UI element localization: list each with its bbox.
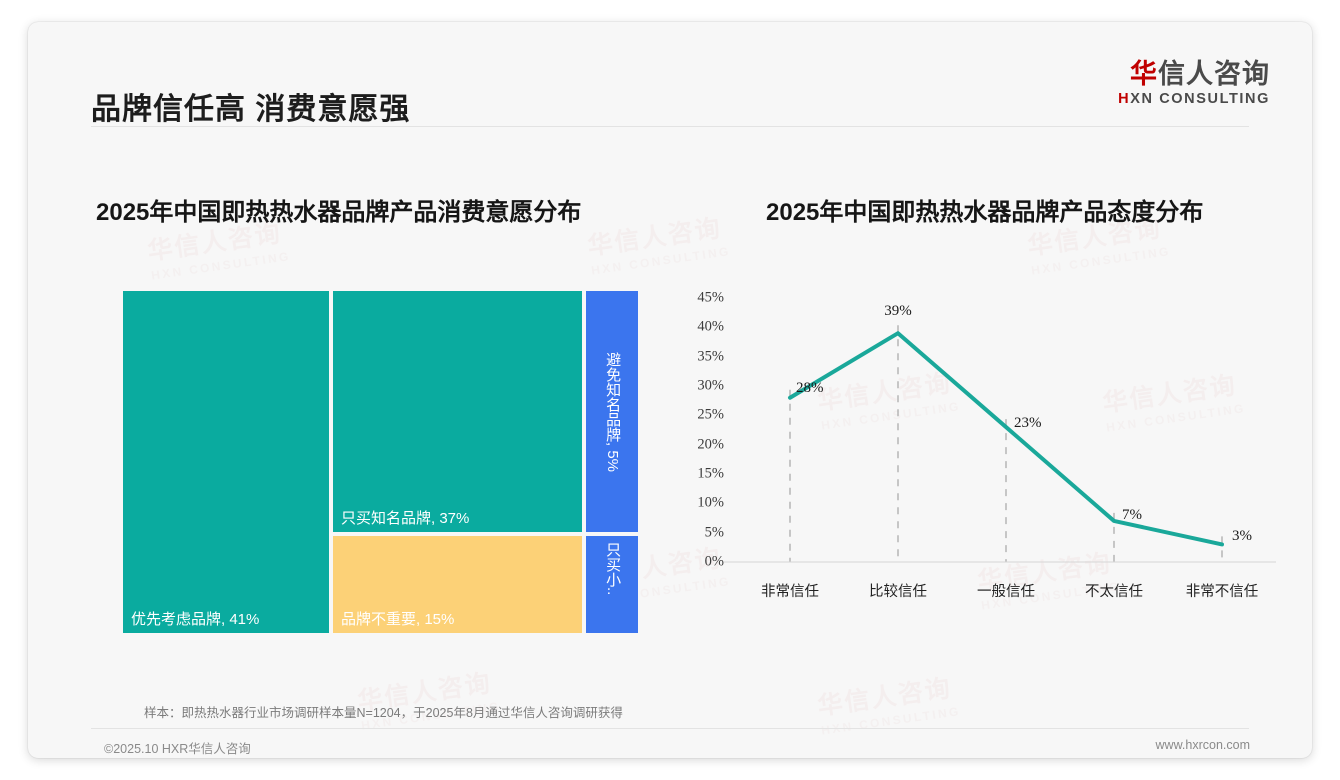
x-axis-tick-label: 不太信任 <box>1085 580 1143 601</box>
header-divider <box>91 126 1249 127</box>
data-point-label: 39% <box>884 303 912 320</box>
company-logo: 华信人咨询 HXN CONSULTING <box>1118 60 1270 107</box>
treemap-tile[interactable]: 优先考虑品牌, 41% <box>121 289 331 635</box>
treemap-tile[interactable]: 避免知名品牌, 5% <box>584 289 640 534</box>
right-chart-title: 2025年中国即热热水器品牌产品态度分布 <box>766 192 1203 227</box>
watermark-en: HXN CONSULTING <box>820 704 961 737</box>
watermark-en: HXN CONSULTING <box>1030 244 1171 277</box>
copyright-text: ©2025.10 HXR华信人咨询 <box>104 738 251 757</box>
watermark-en: HXN CONSULTING <box>590 244 731 277</box>
x-axis-tick-label: 一般信任 <box>977 580 1035 601</box>
logo-cn-red-char: 华 <box>1130 59 1158 89</box>
left-chart-title: 2025年中国即热热水器品牌产品消费意愿分布 <box>96 192 581 227</box>
treemap-tile-label: 品牌不重要, 15% <box>341 608 454 629</box>
treemap-tile[interactable]: 只买小.. <box>584 534 640 635</box>
treemap-tile-label: 只买知名品牌, 37% <box>341 507 469 528</box>
logo-english-text: HXN CONSULTING <box>1118 91 1270 107</box>
slide-header: 品牌信任高 消费意愿强 华信人咨询 HXN CONSULTING <box>28 22 1312 130</box>
footer-divider <box>91 728 1249 729</box>
line-chart-plot <box>678 284 1298 624</box>
website-link[interactable]: www.hxrcon.com <box>1156 738 1250 752</box>
sample-note: 样本：即热热水器行业市场调研样本量N=1204，于2025年8月通过华信人咨询调… <box>144 702 623 721</box>
page-title: 品牌信任高 消费意愿强 <box>91 84 410 128</box>
data-point-label: 28% <box>796 380 824 397</box>
treemap-tile[interactable]: 品牌不重要, 15% <box>331 534 584 635</box>
watermark-cn: 华信人咨询 <box>815 667 959 722</box>
logo-cn-rest: 信人咨询 <box>1158 59 1270 89</box>
treemap-tile-label: 优先考虑品牌, 41% <box>131 608 259 629</box>
data-point-label: 23% <box>1014 415 1042 432</box>
treemap-tile[interactable]: 只买知名品牌, 37% <box>331 289 584 534</box>
logo-en-rest: XN CONSULTING <box>1130 91 1270 107</box>
watermark-cn: 华信人咨询 <box>585 207 729 262</box>
treemap-chart: 优先考虑品牌, 41%只买知名品牌, 37%品牌不重要, 15%避免知名品牌, … <box>121 289 640 635</box>
logo-en-red-char: H <box>1118 91 1130 107</box>
x-axis-tick-label: 非常信任 <box>761 580 819 601</box>
logo-chinese-text: 华信人咨询 <box>1118 60 1270 88</box>
data-point-label: 3% <box>1232 528 1252 545</box>
slide-canvas: 华信人咨询HXN CONSULTING 华信人咨询HXN CONSULTING … <box>28 22 1312 758</box>
treemap-tile-label: 避免知名品牌, 5% <box>604 351 620 471</box>
line-chart: 45%40%35%30%25%20%15%10%5%0%28%39%23%7%3… <box>678 284 1298 624</box>
treemap-tile-label: 只买小.. <box>604 542 620 595</box>
data-point-label: 7% <box>1122 507 1142 524</box>
x-axis-tick-label: 非常不信任 <box>1186 580 1259 601</box>
watermark-en: HXN CONSULTING <box>150 249 291 282</box>
x-axis-tick-label: 比较信任 <box>869 580 927 601</box>
